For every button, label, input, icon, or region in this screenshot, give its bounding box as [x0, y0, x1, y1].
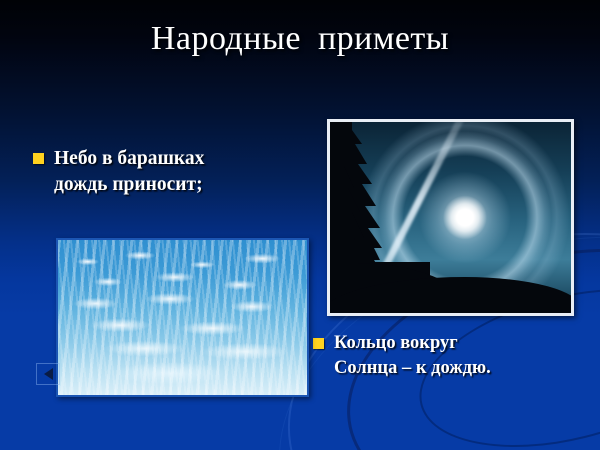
bullet-line: Небо в барашках	[54, 148, 204, 169]
presentation-slide: Народные приметы Небо в барашках дождь п…	[0, 0, 600, 450]
cloud-speckle-texture	[58, 240, 307, 395]
square-bullet-icon	[33, 153, 44, 164]
bullet-line: дождь приносит;	[54, 174, 203, 195]
triangle-left-icon	[44, 368, 53, 380]
slide-title: Народные приметы	[0, 20, 600, 58]
bullet-line: Кольцо вокруг	[334, 333, 458, 353]
bullet-item-ring-around-sun: Кольцо вокруг Солнца – к дождю.	[313, 331, 563, 381]
bullet-text-sky-in-lambs: Небо в барашках дождь приносит;	[54, 146, 204, 198]
bullet-line: Солнца – к дождю.	[334, 358, 491, 378]
sun-halo-photograph	[327, 119, 574, 316]
altocumulus-clouds-photograph	[56, 238, 309, 397]
previous-slide-button[interactable]	[36, 363, 60, 385]
bullet-item-sky-in-lambs: Небо в барашках дождь приносит;	[33, 146, 298, 198]
square-bullet-icon	[313, 338, 324, 349]
bullet-text-ring-around-sun: Кольцо вокруг Солнца – к дождю.	[334, 331, 491, 381]
